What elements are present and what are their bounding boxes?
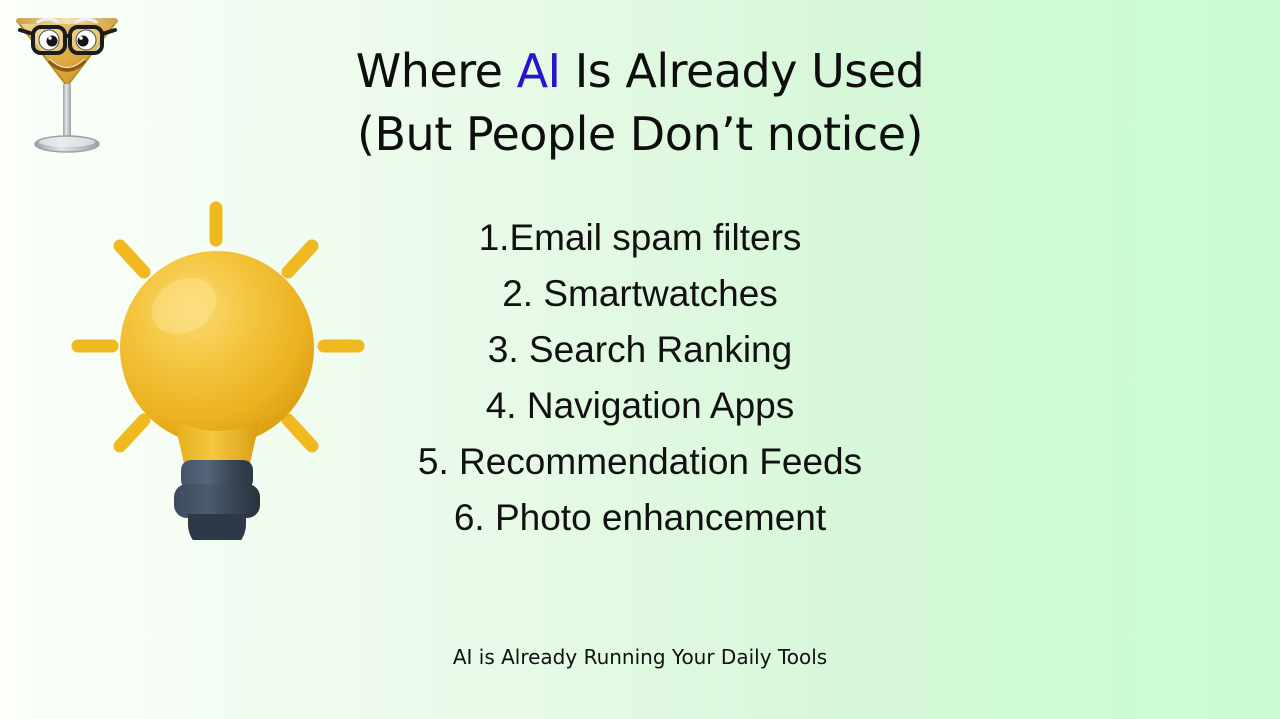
list-item: 6. Photo enhancement	[340, 490, 940, 546]
list-item: 1.Email spam filters	[340, 210, 940, 266]
cocktail-glass-svg	[8, 6, 126, 161]
title-highlight-ai: AI	[517, 44, 561, 98]
list-item: 2. Smartwatches	[340, 266, 940, 322]
list-item: 3. Search Ranking	[340, 322, 940, 378]
lightbulb-svg	[62, 188, 374, 540]
title-line-1: Where AI Is Already Used	[280, 40, 1000, 103]
list-item: 4. Navigation Apps	[340, 378, 940, 434]
slide-title: Where AI Is Already Used (But People Don…	[280, 40, 1000, 166]
lightbulb-base-tip	[188, 514, 246, 540]
title-line-2: (But People Don’t notice)	[280, 103, 1000, 166]
slide-canvas: Where AI Is Already Used (But People Don…	[0, 0, 1280, 719]
list-item: 5. Recommendation Feeds	[340, 434, 940, 490]
lightbulb-icon	[62, 188, 374, 540]
cocktail-glass-with-face-icon	[8, 6, 126, 161]
lightbulb-base-mid	[174, 484, 260, 518]
slide-footer-caption: AI is Already Running Your Daily Tools	[340, 645, 940, 669]
lightbulb-glass	[120, 251, 314, 445]
title-text-after: Is Already Used	[561, 44, 925, 98]
ai-usage-list: 1.Email spam filters 2. Smartwatches 3. …	[340, 210, 940, 546]
title-text-before: Where	[356, 44, 517, 98]
